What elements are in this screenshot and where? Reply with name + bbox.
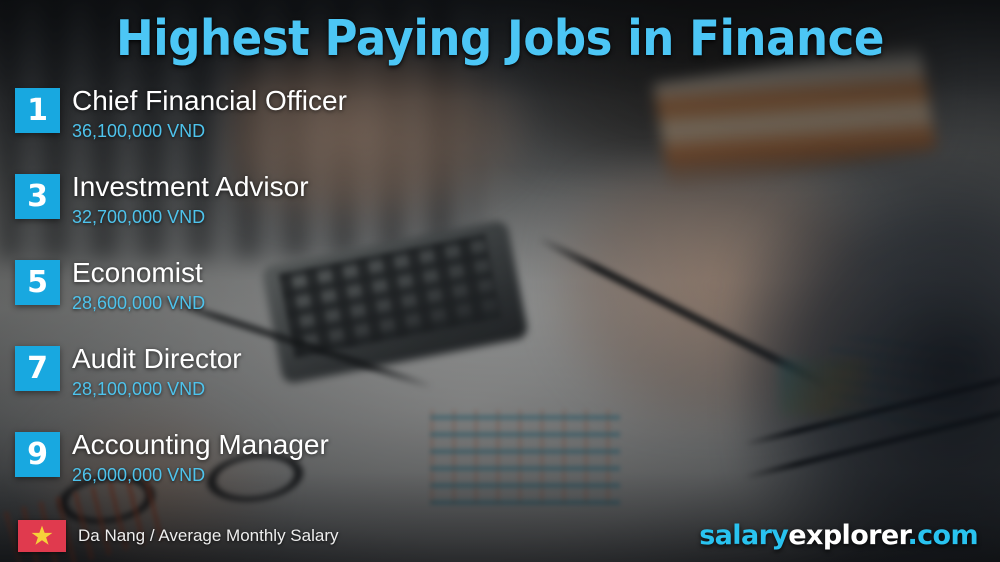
brand-part-salary: salary	[699, 520, 788, 551]
job-row: 9Accounting Manager26,000,000 VND	[0, 432, 500, 518]
job-list: 1Chief Financial Officer36,100,000 VND2F…	[0, 88, 1000, 518]
job-text-block: Investment Advisor32,700,000 VND	[72, 170, 309, 229]
job-salary: 32,700,000 VND	[72, 205, 309, 229]
footer: Da Nang / Average Monthly Salary salarye…	[0, 510, 1000, 562]
job-title: Chief Financial Officer	[72, 84, 347, 118]
brand-part-explorer: explorer	[788, 520, 907, 551]
job-row: 3Investment Advisor32,700,000 VND	[0, 174, 500, 260]
job-row: 4Risk Management Director29,400,000 VND	[500, 174, 1000, 260]
footer-caption: Da Nang / Average Monthly Salary	[78, 526, 339, 546]
site-brand-logo[interactable]: salaryexplorer.com	[699, 520, 978, 551]
rank-badge: 7	[15, 346, 60, 391]
job-title: Investment Advisor	[72, 170, 309, 204]
job-row: 5Economist28,600,000 VND	[0, 260, 500, 346]
job-row: 2Financial Manager34,300,000 VND	[500, 88, 1000, 174]
job-salary: 28,100,000 VND	[72, 377, 242, 401]
brand-part-tld: .com	[907, 520, 978, 551]
job-salary: 36,100,000 VND	[72, 119, 347, 143]
job-row: 10Auditing Manager25,500,000 VND	[500, 432, 1000, 518]
job-title: Economist	[72, 256, 205, 290]
job-text-block: Audit Director28,100,000 VND	[72, 342, 242, 401]
job-title: Audit Director	[72, 342, 242, 376]
job-title: Accounting Manager	[72, 428, 329, 462]
job-row: 1Chief Financial Officer36,100,000 VND	[0, 88, 500, 174]
rank-badge: 9	[15, 432, 60, 477]
job-salary: 28,600,000 VND	[72, 291, 205, 315]
job-row: 6Tax Director28,300,000 VND	[500, 260, 1000, 346]
job-text-block: Accounting Manager26,000,000 VND	[72, 428, 329, 487]
job-salary: 26,000,000 VND	[72, 463, 329, 487]
job-text-block: Economist28,600,000 VND	[72, 256, 205, 315]
job-row: 8Investment Fund Manager27,300,000 VND	[500, 346, 1000, 432]
rank-badge: 5	[15, 260, 60, 305]
rank-badge: 1	[15, 88, 60, 133]
rank-badge: 3	[15, 174, 60, 219]
job-text-block: Chief Financial Officer36,100,000 VND	[72, 84, 347, 143]
job-row: 7Audit Director28,100,000 VND	[0, 346, 500, 432]
salary-infographic-poster: Highest Paying Jobs in Finance 1Chief Fi…	[0, 0, 1000, 562]
vietnam-flag-icon	[18, 520, 66, 552]
page-title: Highest Paying Jobs in Finance	[40, 10, 960, 67]
